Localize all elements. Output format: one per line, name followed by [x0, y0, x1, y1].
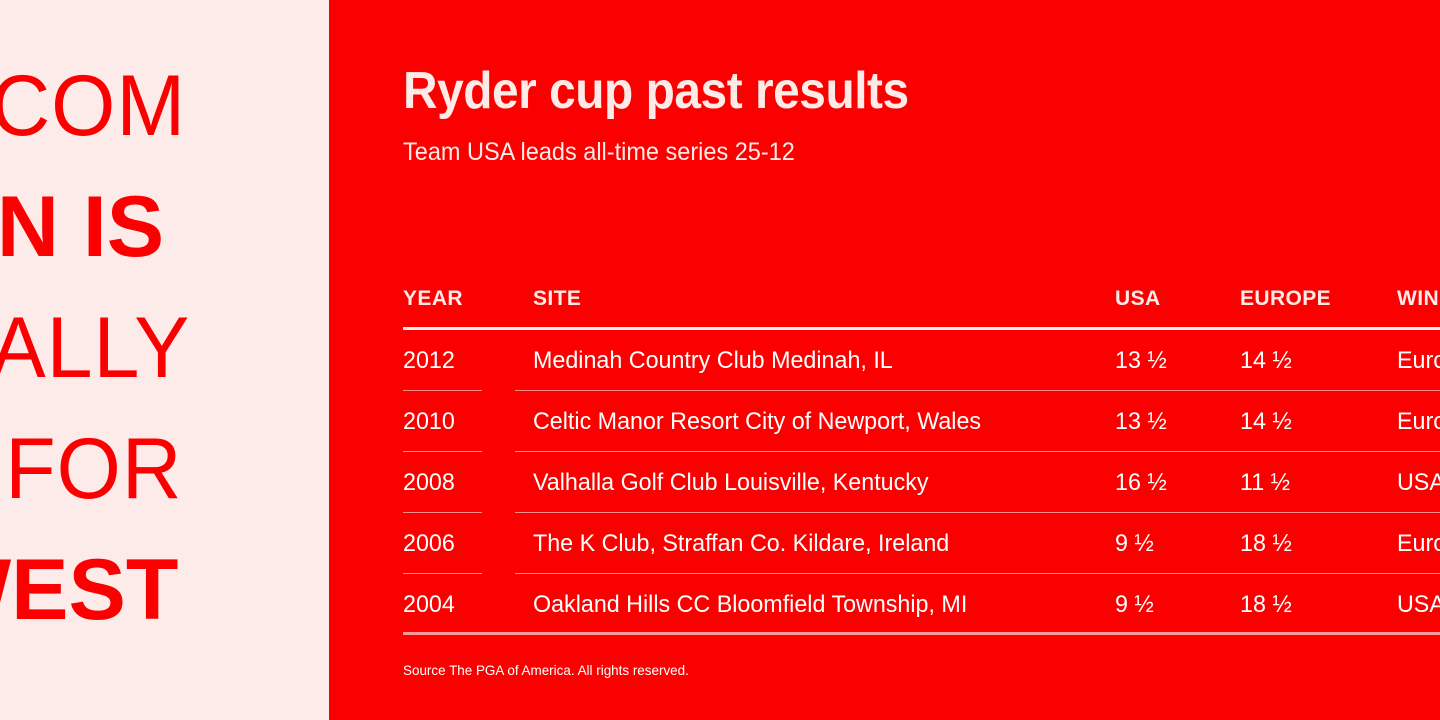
cell-year: 2012	[403, 330, 455, 391]
cell-site: The K Club, Straffan Co. Kildare, Irelan…	[533, 513, 949, 574]
left-decorative-panel: NCOM ON IS RALLY Z FOR WEST	[0, 0, 329, 720]
table-bottom-rule	[403, 632, 1440, 635]
cell-usa: 13 ½	[1115, 330, 1167, 391]
cell-winner: Europe	[1397, 513, 1440, 574]
cell-site: Oakland Hills CC Bloomfield Township, MI	[533, 574, 967, 635]
table-row: 2006 The K Club, Straffan Co. Kildare, I…	[403, 513, 1440, 574]
cell-site: Celtic Manor Resort City of Newport, Wal…	[533, 391, 981, 452]
cell-europe: 11 ½	[1240, 452, 1290, 513]
table-header-row: YEAR SITE USA EUROPE WINNER	[403, 286, 1440, 330]
column-header-site: SITE	[533, 286, 581, 312]
cell-year: 2006	[403, 513, 455, 574]
cell-site: Valhalla Golf Club Louisville, Kentucky	[533, 452, 929, 513]
table-row: 2012 Medinah Country Club Medinah, IL 13…	[403, 330, 1440, 391]
poster-line-1: NCOM	[0, 46, 329, 167]
cell-europe: 18 ½	[1240, 513, 1292, 574]
cell-winner: USA	[1397, 574, 1440, 635]
cell-site: Medinah Country Club Medinah, IL	[533, 330, 893, 391]
column-header-usa: USA	[1115, 286, 1161, 312]
page-title: Ryder cup past results	[403, 60, 909, 122]
column-header-winner: WINNER	[1397, 286, 1440, 312]
cell-europe: 14 ½	[1240, 391, 1292, 452]
cell-europe: 14 ½	[1240, 330, 1292, 391]
table-row: 2010 Celtic Manor Resort City of Newport…	[403, 391, 1440, 452]
cell-winner: Europe	[1397, 330, 1440, 391]
cell-usa: 9 ½	[1115, 513, 1154, 574]
cell-europe: 18 ½	[1240, 574, 1292, 635]
poster-headline-block: NCOM ON IS RALLY Z FOR WEST	[0, 46, 329, 651]
poster-line-4: Z FOR	[0, 409, 329, 530]
poster-line-2: ON IS	[0, 167, 329, 288]
table-row: 2008 Valhalla Golf Club Louisville, Kent…	[403, 452, 1440, 513]
cell-winner: USA	[1397, 452, 1440, 513]
page-subtitle: Team USA leads all-time series 25-12	[403, 137, 795, 167]
cell-year: 2010	[403, 391, 455, 452]
poster-stage: NCOM ON IS RALLY Z FOR WEST Ryder cup pa…	[0, 0, 1440, 720]
cell-year: 2008	[403, 452, 455, 513]
column-header-year: YEAR	[403, 286, 463, 312]
table-row: 2004 Oakland Hills CC Bloomfield Townshi…	[403, 574, 1440, 635]
column-header-europe: EUROPE	[1240, 286, 1331, 312]
main-panel: Ryder cup past results Team USA leads al…	[329, 0, 1440, 720]
cell-usa: 9 ½	[1115, 574, 1154, 635]
poster-line-3: RALLY	[0, 288, 329, 409]
cell-usa: 16 ½	[1115, 452, 1167, 513]
results-table: YEAR SITE USA EUROPE WINNER 2012 Medinah…	[403, 286, 1440, 635]
source-note: Source The PGA of America. All rights re…	[403, 661, 689, 679]
cell-year: 2004	[403, 574, 455, 635]
cell-winner: Europe	[1397, 391, 1440, 452]
poster-line-5: WEST	[0, 530, 329, 651]
cell-usa: 13 ½	[1115, 391, 1167, 452]
